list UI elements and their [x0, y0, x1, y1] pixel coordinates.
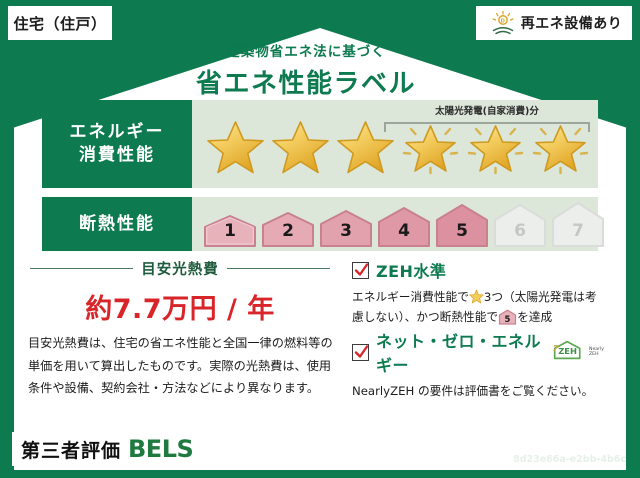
check-icon — [354, 345, 369, 360]
energy-label-line1: エネルギー — [70, 121, 165, 144]
net-zero-energy-title: ネット・ゼロ・エネルギー — [376, 328, 542, 376]
insulation-level-5: 5 — [434, 202, 490, 247]
star-icon-sparkle — [464, 117, 527, 177]
net-zero-energy-text: NearlyZEH の要件は評価書をご覧ください。 — [352, 381, 604, 401]
renewable-energy-badge: D 再エネ設備あり — [476, 6, 632, 40]
star-icon — [334, 117, 397, 177]
insulation-level-scale: 1 2 3 4 — [192, 201, 606, 247]
insulation-level-1: 1 — [202, 213, 258, 247]
cost-value: 約7.7万円 / 年 — [30, 287, 330, 326]
zeh-standard-text: エネルギー消費性能で3つ（太陽光発電は考慮しない）、かつ断熱性能で5を達成 — [352, 287, 604, 327]
zeh-logo-sub-line2: ZEH — [589, 352, 599, 357]
zeh-logo-subtext: Nearly ZEH — [589, 347, 604, 358]
page-title: 省エネ性能ラベル — [0, 63, 612, 100]
sun-icon: D — [490, 10, 516, 36]
evaluation-id: 8d23e66a-e2bb-4b6c — [513, 454, 626, 465]
bels-jp-label: 第三者評価 — [21, 436, 121, 463]
insulation-level-7: 7 — [550, 200, 606, 247]
insulation-rating-area: 1 2 3 4 — [192, 197, 606, 251]
insulation-performance-label-box: 断熱性能 — [42, 197, 192, 251]
star-icon-sparkle — [399, 117, 462, 177]
energy-performance-label-box: エネルギー 消費性能 — [42, 100, 192, 188]
evaluation-date: 評価日 2024年11月26日 — [449, 434, 626, 455]
label-footer: 第三者評価 BELS Shamaison mauvein 101号室 評価日 2… — [0, 426, 640, 478]
bels-badge: 第三者評価 BELS — [12, 432, 206, 466]
zeh-standard-block: ZEH水準 エネルギー消費性能で3つ（太陽光発電は考慮しない）、かつ断熱性能で5… — [352, 258, 604, 327]
energy-rating-area: 太陽光発電(自家消費)分 — [192, 100, 598, 188]
insulation-level-2: 2 — [260, 210, 316, 247]
cost-note: 目安光熱費は、住宅の省エネ性能と全国一律の燃料等の単価を用いて算出したものです。… — [28, 332, 338, 400]
insulation-level-label: 6 — [492, 221, 548, 241]
svg-text:5: 5 — [505, 315, 511, 325]
insulation-level-6: 6 — [492, 202, 548, 247]
estimated-utility-cost-block: 目安光熱費 約7.7万円 / 年 — [30, 258, 330, 326]
insulation-level-label: 7 — [550, 221, 606, 241]
cost-heading-row: 目安光熱費 — [30, 258, 330, 279]
divider-right — [227, 268, 330, 269]
insulation-level-label: 1 — [202, 221, 258, 241]
bels-en-label: BELS — [128, 435, 193, 463]
net-zero-energy-heading: ネット・ゼロ・エネルギー ZEH Nearly ZEH — [352, 328, 604, 376]
star-icon-sparkle — [529, 117, 592, 177]
insulation-level-3: 3 — [318, 208, 374, 247]
building-info: Shamaison mauvein 101号室 — [218, 441, 445, 460]
housing-type-badge-label: 住宅（住戸） — [13, 13, 106, 34]
renewable-badge-label: 再エネ設備あり — [521, 13, 623, 33]
zeh-standard-title: ZEH水準 — [376, 258, 446, 282]
svg-text:D: D — [500, 18, 505, 24]
energy-star-rating — [192, 117, 592, 177]
net-zero-energy-block: ネット・ゼロ・エネルギー ZEH Nearly ZEH NearlyZEH の要… — [352, 328, 604, 401]
label-title-block: 建築物省エネ法に基づく 省エネ性能ラベル — [0, 40, 612, 100]
zeh-standard-text-part1: エネルギー消費性能で — [352, 290, 469, 304]
zeh-standard-text-part3: を達成 — [517, 310, 552, 324]
check-icon — [354, 263, 369, 278]
insulation-level-label: 3 — [318, 221, 374, 241]
house-icon-inline: 5 — [498, 309, 517, 325]
energy-performance-row: エネルギー 消費性能 太陽光発電(自家消費)分 — [42, 100, 598, 188]
label-subtitle: 建築物省エネ法に基づく — [0, 40, 612, 60]
star-icon — [269, 117, 332, 177]
star-icon-inline — [469, 289, 484, 304]
energy-label-line2: 消費性能 — [79, 144, 155, 167]
insulation-label: 断熱性能 — [79, 213, 155, 236]
energy-performance-label: 建築物省エネ法に基づく 省エネ性能ラベル 住宅（住戸） D 再エネ設備あ — [0, 0, 640, 478]
housing-type-badge: 住宅（住戸） — [8, 6, 112, 40]
checkbox-zeh-standard[interactable] — [352, 262, 369, 279]
zeh-standard-heading: ZEH水準 — [352, 258, 604, 282]
insulation-level-label: 5 — [434, 221, 490, 241]
svg-text:ZEH: ZEH — [558, 346, 577, 356]
checkbox-net-zero-energy[interactable] — [352, 344, 369, 361]
star-icon — [204, 117, 267, 177]
insulation-level-4: 4 — [376, 205, 432, 247]
solar-bracket-label: 太陽光発電(自家消費)分 — [384, 103, 590, 117]
divider-left — [30, 268, 133, 269]
insulation-level-label: 4 — [376, 221, 432, 241]
cost-heading: 目安光熱費 — [141, 258, 219, 279]
insulation-performance-row: 断熱性能 1 2 — [42, 197, 598, 251]
zeh-logo-sub-line1: Nearly — [589, 347, 604, 352]
zeh-logo-icon: ZEH — [553, 340, 581, 364]
insulation-level-label: 2 — [260, 221, 316, 241]
